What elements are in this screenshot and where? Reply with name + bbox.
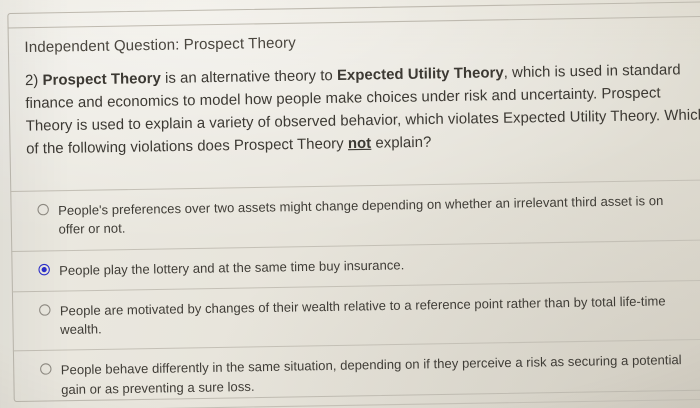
radio-button-icon[interactable] [39, 304, 51, 316]
question-body: 2) Prospect Theory is an alternative the… [25, 59, 700, 161]
radio-button-icon[interactable] [40, 363, 52, 375]
question-text-run: explain? [371, 134, 431, 152]
question-negation-emphasis: not [348, 135, 372, 152]
screen-photo: 1. Independent Question: Prospect Theory… [0, 0, 700, 408]
page-content-wrapper: 1. Independent Question: Prospect Theory… [0, 0, 700, 408]
question-content: Independent Question: Prospect Theory 2)… [24, 28, 700, 161]
answer-option-label: People's preferences over two assets mig… [58, 191, 692, 239]
question-emphasis: Expected Utility Theory [337, 65, 504, 84]
answer-option-label: People behave differently in the same si… [61, 351, 695, 399]
answer-option-label: People play the lottery and at the same … [59, 255, 404, 280]
radio-button-icon[interactable] [37, 204, 49, 216]
question-text-run: is an alternative theory to [161, 68, 337, 87]
answer-options-list: People's preferences over two assets mig… [10, 179, 700, 408]
question-emphasis: Prospect Theory [42, 71, 161, 90]
answer-option-d[interactable]: People behave differently in the same si… [13, 340, 700, 408]
radio-button-selected-icon[interactable] [38, 263, 50, 275]
answer-option-label: People are motivated by changes of their… [60, 291, 694, 339]
question-text-run: 2) [25, 72, 43, 89]
